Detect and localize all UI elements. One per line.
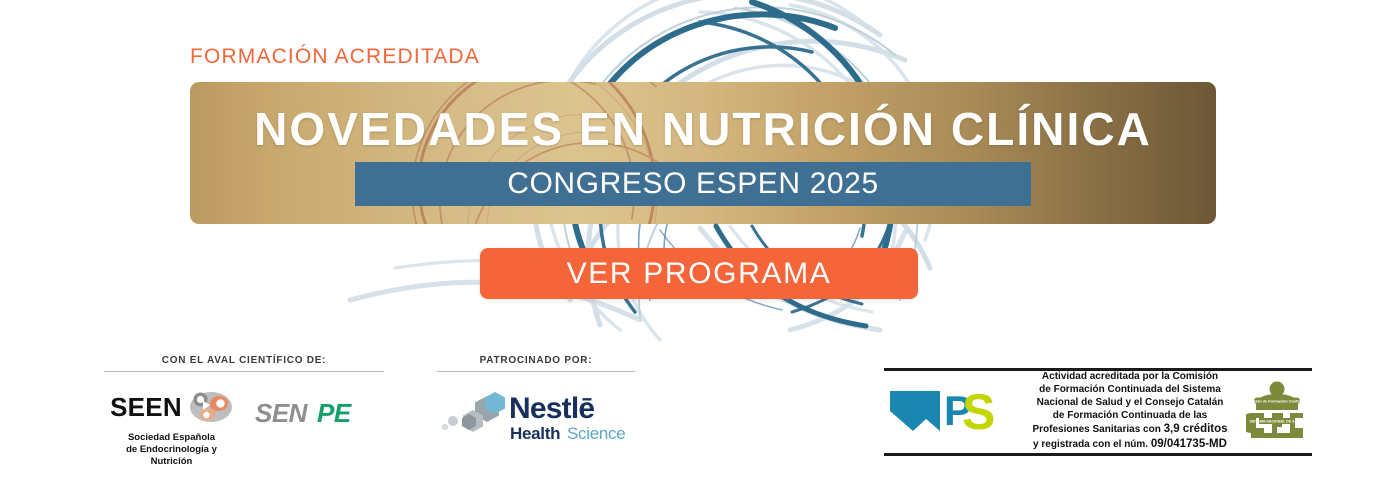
accreditation-line-5: Profesiones Sanitarias con 3,9 créditos bbox=[1018, 422, 1242, 437]
seen-emblem-icon bbox=[187, 389, 233, 425]
accreditation-line-3: Nacional de Salud y el Consejo Catalán bbox=[1018, 396, 1242, 409]
seen-caption-line1: Sociedad Española bbox=[128, 432, 215, 443]
senpe-part2: PE bbox=[317, 398, 352, 428]
accreditation-block: P S Actividad acreditada por la Comisión… bbox=[884, 368, 1312, 456]
sponsor-strip: PATROCINADO POR: Nestlē Health Science bbox=[437, 355, 635, 446]
ps-logo-icon: P S bbox=[886, 385, 1014, 437]
cfc-bottom-label: SISTEMA NACIONAL DE SALUD bbox=[1249, 420, 1305, 424]
accreditation-text: Actividad acreditada por la Comisión de … bbox=[1014, 370, 1246, 452]
nestle-sub-bold: Health bbox=[510, 424, 560, 443]
cfc-logo-icon: Comisión de Formación Continuada SISTEMA… bbox=[1246, 380, 1308, 442]
nestle-health-science-icon: Nestlē Health Science bbox=[441, 388, 631, 446]
seen-logo[interactable]: SEEN Sociedad Española de Endocrinol bbox=[104, 386, 239, 468]
nestle-wordmark: Nestlē bbox=[509, 392, 594, 425]
banner-subtitle-bar: CONGRESO ESPEN 2025 bbox=[355, 162, 1031, 206]
seen-caption: Sociedad Española de Endocrinología y Nu… bbox=[104, 432, 239, 468]
endorsement-strip: CON EL AVAL CIENTÍFICO DE: SEEN bbox=[104, 355, 384, 468]
accreditation-line-6-prefix: y registrada con el núm. bbox=[1033, 439, 1151, 450]
ps-letter-s: S bbox=[962, 385, 995, 437]
accreditation-credits: 3,9 créditos bbox=[1164, 423, 1228, 435]
endorsement-heading: CON EL AVAL CIENTÍFICO DE: bbox=[104, 355, 384, 366]
accreditation-line-6: y registrada con el núm. 09/041735-MD bbox=[1018, 437, 1242, 452]
sponsor-heading: PATROCINADO POR: bbox=[437, 355, 635, 366]
seen-wordmark: SEEN bbox=[110, 392, 182, 423]
accreditation-line-2: de Formación Continuada del Sistema bbox=[1018, 383, 1242, 396]
banner-title: NOVEDADES EN NUTRICIÓN CLÍNICA bbox=[190, 102, 1216, 156]
endorsement-divider bbox=[104, 371, 384, 372]
cfc-top-label: Comisión de Formación Continuada bbox=[1246, 400, 1308, 404]
seen-logo-row: SEEN bbox=[104, 386, 239, 428]
title-banner: NOVEDADES EN NUTRICIÓN CLÍNICA CONGRESO … bbox=[190, 82, 1216, 224]
nestle-logo[interactable]: Nestlē Health Science bbox=[437, 388, 635, 446]
sponsor-divider bbox=[437, 371, 635, 372]
accreditation-line-1: Actividad acreditada por la Comisión bbox=[1018, 370, 1242, 383]
seen-caption-line2: de Endocrinología y Nutrición bbox=[126, 444, 217, 467]
nestle-sub-light: Science bbox=[567, 424, 625, 443]
endorsement-logo-row: SEEN Sociedad Española de Endocrinol bbox=[104, 386, 384, 468]
accreditation-registry-number: 09/041735-MD bbox=[1151, 438, 1227, 450]
senpe-logo[interactable]: SEN PE bbox=[244, 392, 384, 434]
accreditation-line-4: de Formación Continuada de las bbox=[1018, 409, 1242, 422]
banner-subtitle: CONGRESO ESPEN 2025 bbox=[507, 167, 879, 201]
eyebrow-label: FORMACIÓN ACREDITADA bbox=[190, 45, 480, 69]
ver-programa-button[interactable]: VER PROGRAMA bbox=[480, 248, 918, 299]
senpe-part1: SEN bbox=[255, 398, 309, 428]
accreditation-body: P S Actividad acreditada por la Comisión… bbox=[884, 371, 1312, 451]
promo-banner: FORMACIÓN ACREDITADA bbox=[0, 0, 1400, 480]
accreditation-line-5-prefix: Profesiones Sanitarias con bbox=[1032, 424, 1163, 435]
accreditation-bottom-rule bbox=[884, 453, 1312, 456]
senpe-wordmark-icon: SEN PE bbox=[255, 397, 373, 429]
